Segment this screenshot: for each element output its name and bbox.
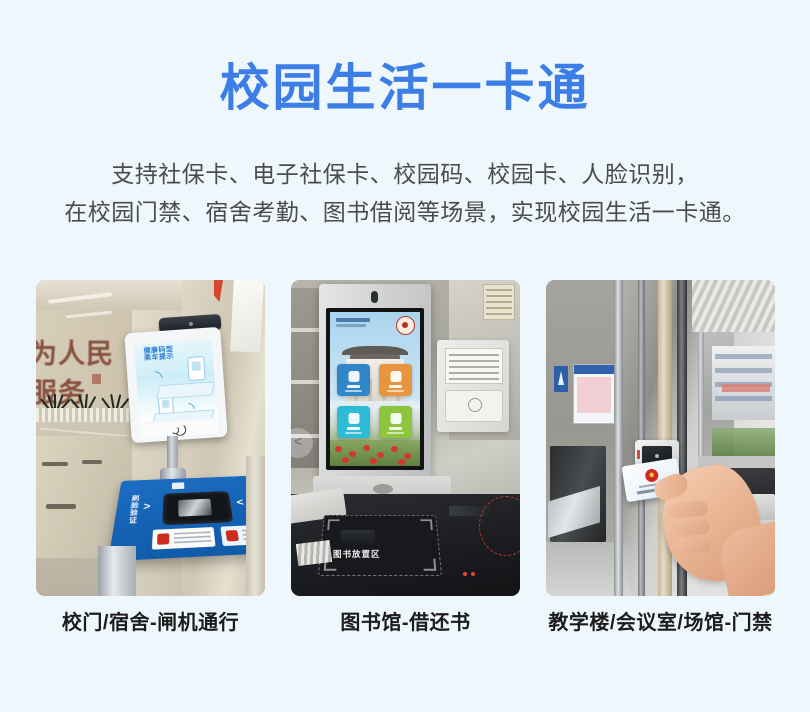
arrow-right-icon: >	[143, 501, 151, 512]
turnstile-sticker-1	[152, 527, 216, 550]
qr-scanner-window[interactable]	[162, 491, 233, 525]
photo-gate-turnstile: 为人民服务	[36, 280, 265, 596]
wall-mounted-notice-panel	[437, 340, 509, 432]
return-book-icon	[390, 371, 401, 382]
notice-icon-area	[445, 390, 503, 422]
flower-bed	[330, 440, 420, 466]
face-recognition-terminal[interactable]: 健康码型乘车提示	[124, 327, 227, 443]
door-frame-1	[614, 280, 623, 596]
direction-sign-icon	[554, 366, 568, 392]
finger-3	[676, 537, 710, 552]
arrow-left-icon: <	[236, 497, 245, 508]
wall-paper-notice	[230, 280, 264, 353]
scenario-card-gate-turnstile[interactable]: 为人民服务	[36, 280, 265, 596]
renew-icon	[390, 413, 401, 424]
terminal-screen-heading: 健康码型乘车提示	[143, 346, 190, 362]
national-emblem-icon-2	[226, 530, 239, 541]
self-service-kiosk[interactable]	[319, 284, 431, 480]
page-title: 校园生活一卡通	[0, 58, 810, 118]
status-led-2	[471, 572, 475, 576]
search-icon	[348, 413, 359, 424]
reader-status-led	[637, 450, 640, 459]
notice-board-body	[577, 377, 611, 413]
ceiling-blinds	[692, 280, 775, 332]
finger-2	[672, 519, 711, 536]
notice-board-header	[574, 365, 614, 374]
kiosk-tile-query[interactable]	[337, 406, 370, 438]
reader-sensor-icon	[655, 454, 659, 458]
kiosk-tile-renew[interactable]	[379, 406, 412, 438]
kiosk-screen-bezel	[326, 308, 424, 470]
desk-slot-3	[46, 504, 76, 509]
book-on-pad	[341, 530, 375, 546]
wall-poster	[483, 284, 515, 320]
caption-door-access: 教学楼/会议室/场馆-门禁	[546, 606, 775, 635]
side-metal-panel	[246, 456, 265, 596]
kiosk-screen[interactable]	[330, 312, 420, 466]
turnstile-label-left: 刷脸验证	[126, 495, 141, 525]
caption-row: 校门/宿舍-闸机通行 图书馆-借还书 教学楼/会议室/场馆-门禁	[36, 606, 775, 635]
status-led-1	[463, 572, 467, 576]
nfc-icon	[171, 423, 188, 435]
borrow-book-icon	[348, 371, 359, 382]
photo-door-access	[546, 280, 775, 596]
subtitle-line-1: 支持社保卡、电子社保卡、校园码、校园卡、人脸识别，	[0, 155, 810, 193]
exterior-building	[712, 346, 775, 420]
school-emblem-icon	[396, 316, 415, 335]
kiosk-base-vent	[373, 484, 393, 494]
counter-illustration-1	[156, 381, 215, 399]
book-placement-pad[interactable]	[318, 515, 442, 576]
notice-board	[573, 364, 615, 424]
kiosk-camera-icon	[371, 291, 378, 303]
page-root: 校园生活一卡通 支持社保卡、电子社保卡、校园码、校园卡、人脸识别， 在校园门禁、…	[0, 0, 810, 712]
wall-calligraphy: 为人民服务	[36, 332, 120, 372]
page-subtitle: 支持社保卡、电子社保卡、校园码、校园卡、人脸识别， 在校园门禁、宿舍考勤、图书借…	[0, 155, 810, 231]
subtitle-line-2: 在校园门禁、宿舍考勤、图书借阅等场景，实现校园生活一卡通。	[0, 193, 810, 231]
scenario-card-library-kiosk[interactable]: 图书放置区	[291, 280, 520, 596]
book-pad-label: 图书放置区	[333, 548, 407, 560]
kiosk-tile-borrow[interactable]	[337, 364, 370, 396]
desk-slot-2	[82, 460, 102, 464]
desk-slot-1	[42, 462, 68, 466]
door-frame-2	[638, 280, 645, 596]
sticker-text-lines-1	[174, 531, 211, 544]
screen-header	[336, 318, 374, 329]
kiosk-tile-return[interactable]	[379, 364, 412, 396]
national-emblem-icon-1	[157, 533, 169, 545]
scenario-card-gallery: 为人民服务	[36, 280, 775, 596]
exterior-hedge	[712, 428, 775, 456]
caption-gate-turnstile: 校门/宿舍-闸机通行	[36, 606, 265, 635]
photo-library-kiosk: 图书放置区	[291, 280, 520, 596]
turnstile-pedestal	[98, 546, 136, 596]
caption-library-kiosk: 图书馆-借还书	[291, 606, 520, 635]
scenario-card-door-access[interactable]	[546, 280, 775, 596]
terminal-screen: 健康码型乘车提示	[134, 339, 217, 422]
notice-text-area	[445, 348, 503, 384]
turnstile-brand-logo	[172, 481, 222, 489]
phone-illustration-1	[187, 356, 206, 381]
exterior-signage	[722, 384, 770, 392]
book-stack	[296, 540, 332, 566]
